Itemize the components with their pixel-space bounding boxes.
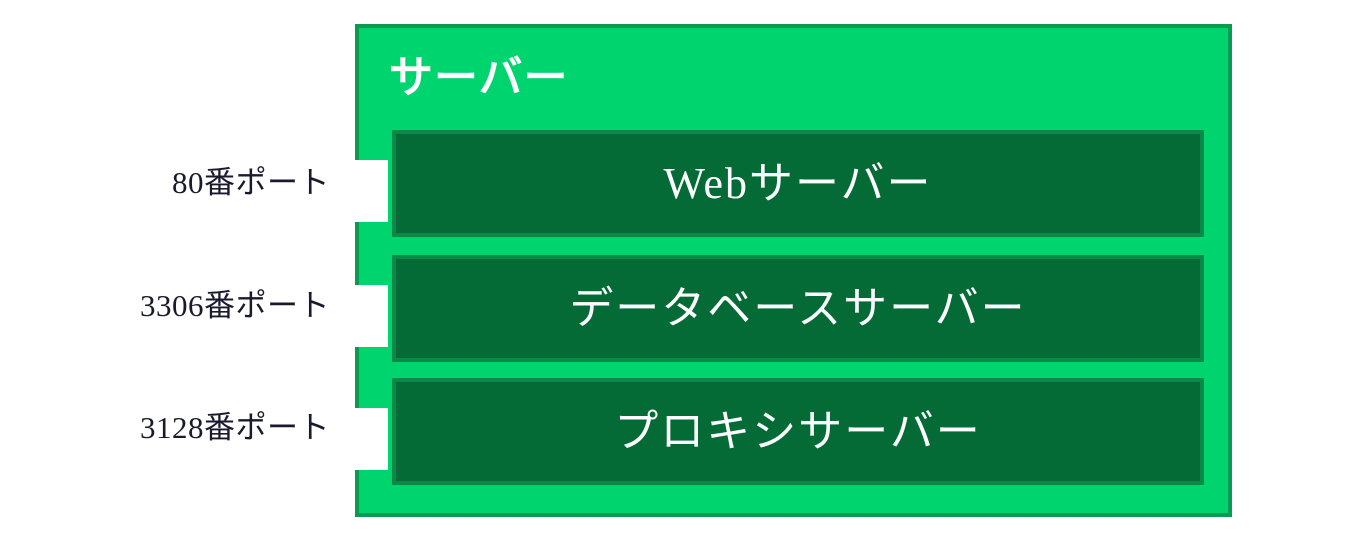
server-title: サーバー bbox=[389, 56, 569, 100]
port-label-3306: 3306番ポート bbox=[0, 290, 330, 321]
service-box-web-server: Webサーバー bbox=[392, 130, 1204, 237]
service-box-proxy-server: プロキシサーバー bbox=[392, 378, 1204, 485]
server-container: サーバー Webサーバー データベースサーバー プロキシサーバー bbox=[355, 24, 1232, 517]
port-notch-80 bbox=[355, 160, 388, 222]
port-label-3128: 3128番ポート bbox=[0, 412, 330, 443]
service-box-database-server: データベースサーバー bbox=[392, 255, 1204, 362]
service-label-proxy-server: プロキシサーバー bbox=[614, 410, 982, 454]
port-label-80: 80番ポート bbox=[0, 167, 330, 198]
server-ports-diagram: 80番ポート 3306番ポート 3128番ポート サーバー Webサーバー デー… bbox=[0, 0, 1354, 541]
service-label-web-server: Webサーバー bbox=[663, 162, 932, 206]
port-notch-3128 bbox=[355, 408, 388, 470]
service-label-database-server: データベースサーバー bbox=[569, 287, 1026, 331]
port-notch-3306 bbox=[355, 285, 388, 347]
